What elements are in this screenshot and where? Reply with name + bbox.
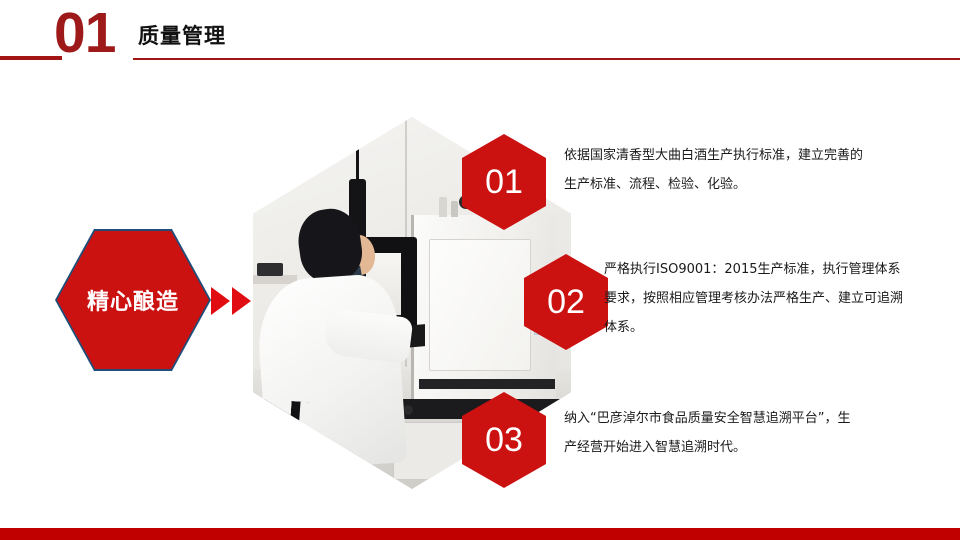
photo-instrument-door xyxy=(429,239,531,371)
right-arrow-icon-2 xyxy=(232,287,251,315)
header-rule-right xyxy=(133,58,960,60)
photo-bottle-1 xyxy=(439,197,447,217)
header-rule-left xyxy=(0,56,62,60)
step-text-02-body: 严格执行ISO9001：2015生产标准，执行管理体系要求，按照相应管理考核办法… xyxy=(604,255,904,342)
step-text-01: 依据国家清香型大曲白酒生产执行标准，建立完善的生产标准、流程、检验、化验。 xyxy=(564,141,864,199)
photo-radio-antenna xyxy=(356,145,359,183)
step-text-01-body: 依据国家清香型大曲白酒生产执行标准，建立完善的生产标准、流程、检验、化验。 xyxy=(564,141,864,199)
step-badge-02-number: 02 xyxy=(547,285,585,319)
brew-hexagon-label: 精心酿造 xyxy=(87,284,179,316)
page-title: 质量管理 xyxy=(138,24,226,48)
step-badge-03-number: 03 xyxy=(485,423,523,457)
right-arrow-icon-1 xyxy=(211,287,230,315)
step-text-03-body: 纳入“巴彦淖尔市食品质量安全智慧追溯平台”，生产经营开始进入智慧追溯时代。 xyxy=(564,404,854,462)
brew-hexagon-badge: 精心酿造 xyxy=(57,231,209,369)
slide-canvas: 01 质量管理 精心酿造 xyxy=(0,0,960,540)
photo-shelf-item xyxy=(257,263,283,276)
header-section-number: 01 xyxy=(54,5,115,62)
photo-instrument-vent xyxy=(419,379,555,389)
step-badge-01-number: 01 xyxy=(485,165,523,199)
step-text-02: 严格执行ISO9001：2015生产标准，执行管理体系要求，按照相应管理考核办法… xyxy=(604,255,904,342)
photo-person-labcoat xyxy=(255,272,408,471)
step-text-03: 纳入“巴彦淖尔市食品质量安全智慧追溯平台”，生产经营开始进入智慧追溯时代。 xyxy=(564,404,854,462)
photo-bottle-2 xyxy=(451,201,458,217)
footer-bar xyxy=(0,528,960,540)
photo-chair xyxy=(287,401,353,476)
photo-drawer-knob xyxy=(403,405,413,415)
